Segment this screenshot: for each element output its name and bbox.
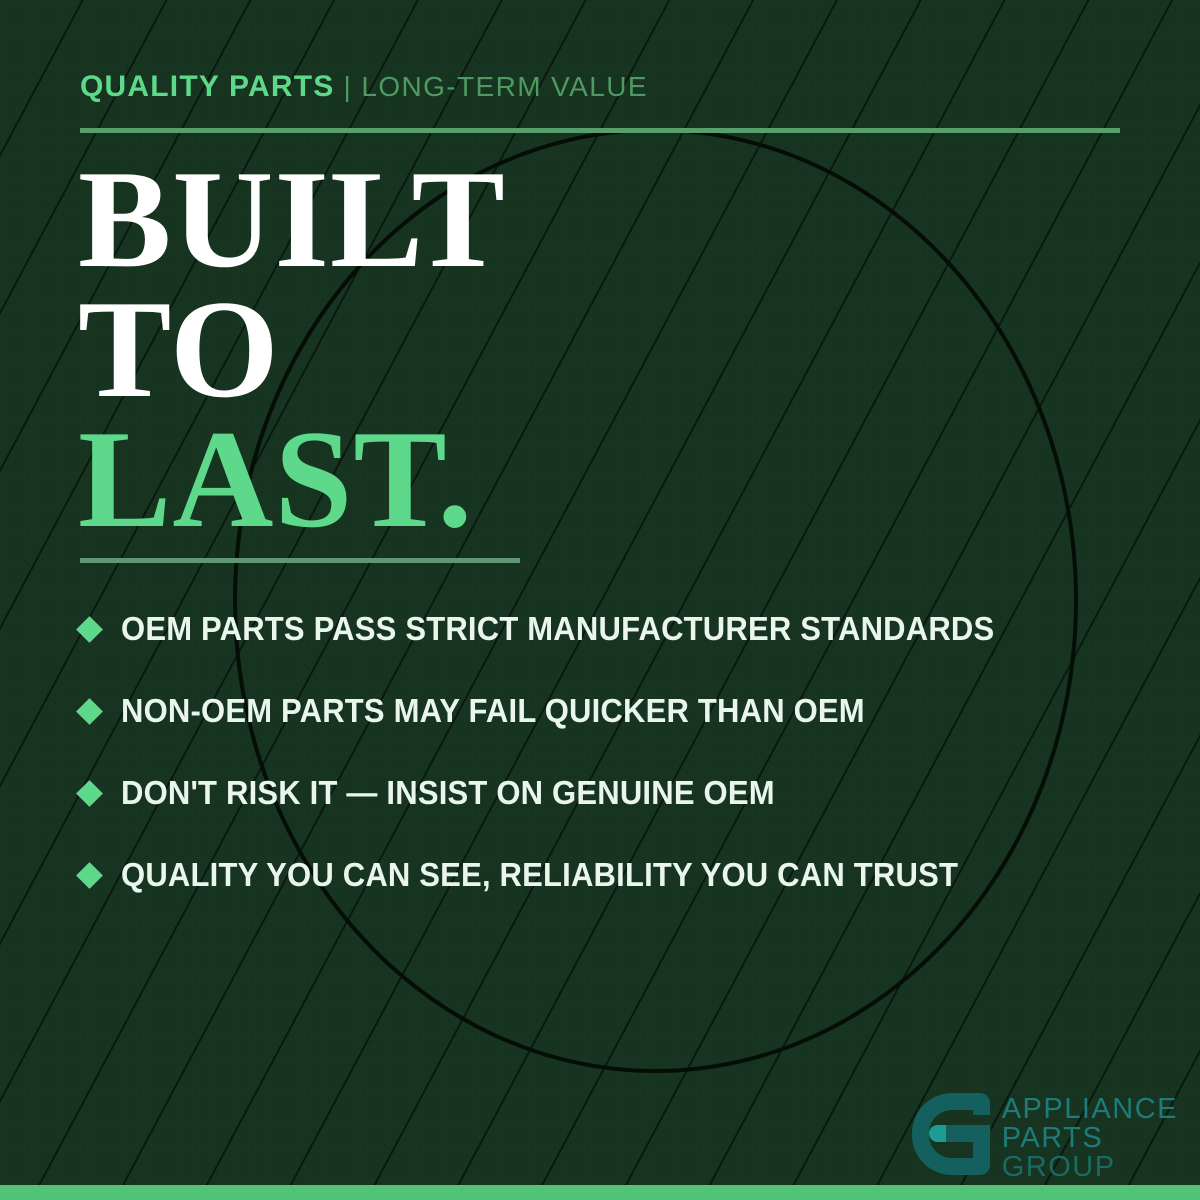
g-crossbar-shape (942, 1125, 990, 1142)
benefit-list: OEM PARTS PASS STRICT MANUFACTURER STAND… (80, 588, 1150, 916)
page-title: BUILT TO LAST. (78, 155, 506, 546)
brand-logo-text: APPLIANCE PARTS GROUP (1002, 1093, 1178, 1182)
content-layer: QUALITY PARTS| LONG-TERM VALUE BUILT TO … (0, 0, 1200, 1200)
brand-line-1: APPLIANCE (1002, 1095, 1178, 1124)
diamond-bullet-icon (76, 616, 103, 643)
diamond-bullet-icon (76, 698, 103, 725)
list-item: DON'T RISK IT — INSIST ON GENUINE OEM (80, 752, 1150, 834)
brand-line-3: GROUP (1002, 1153, 1178, 1182)
kicker-main-label: QUALITY PARTS (80, 70, 335, 103)
headline-line-1: BUILT (78, 155, 506, 285)
header-kicker: QUALITY PARTS| LONG-TERM VALUE (80, 72, 648, 102)
headline-divider-rule (80, 558, 520, 563)
list-item-label: QUALITY YOU CAN SEE, RELIABILITY YOU CAN… (121, 856, 958, 894)
diamond-bullet-icon (76, 780, 103, 807)
poster-canvas: QUALITY PARTS| LONG-TERM VALUE BUILT TO … (0, 0, 1200, 1200)
appliance-parts-group-g-icon (912, 1093, 990, 1175)
footer-accent-bar (0, 1185, 1200, 1200)
brand-line-2: PARTS (1002, 1124, 1178, 1153)
list-item: NON-OEM PARTS MAY FAIL QUICKER THAN OEM (80, 670, 1150, 752)
list-item-label: NON-OEM PARTS MAY FAIL QUICKER THAN OEM (121, 692, 865, 730)
headline-line-3: LAST. (78, 415, 506, 545)
list-item: QUALITY YOU CAN SEE, RELIABILITY YOU CAN… (80, 834, 1150, 916)
list-item-label: OEM PARTS PASS STRICT MANUFACTURER STAND… (121, 610, 994, 648)
list-item: OEM PARTS PASS STRICT MANUFACTURER STAND… (80, 588, 1150, 670)
header-divider-rule (80, 128, 1120, 133)
list-item-label: DON'T RISK IT — INSIST ON GENUINE OEM (121, 774, 775, 812)
kicker-sub-label: | LONG-TERM VALUE (344, 71, 648, 102)
headline-line-2: TO (78, 285, 506, 415)
g-dot-shape (929, 1125, 946, 1142)
diamond-bullet-icon (76, 862, 103, 889)
brand-logo: APPLIANCE PARTS GROUP (912, 1093, 1178, 1182)
